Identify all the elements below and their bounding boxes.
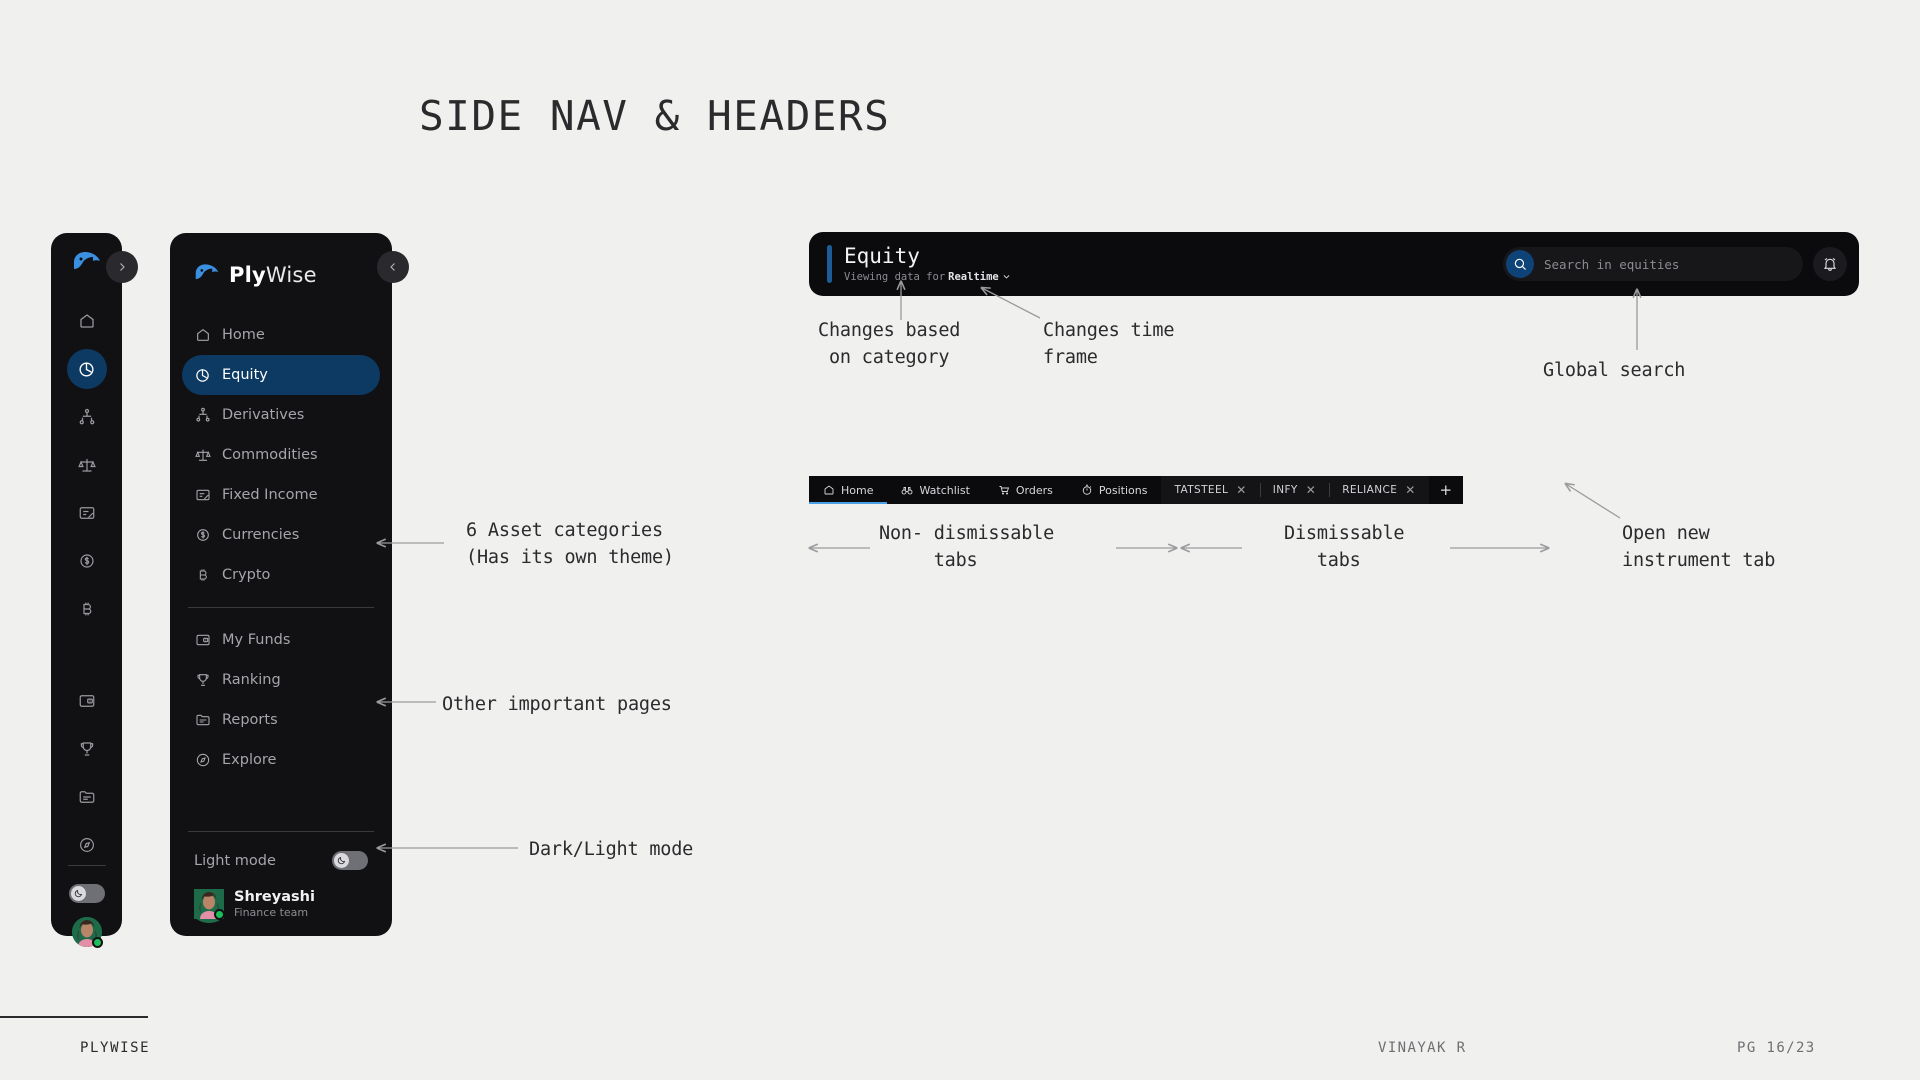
- close-icon[interactable]: ✕: [1236, 484, 1246, 496]
- sidebar-item-currencies[interactable]: Currencies: [182, 515, 380, 555]
- nav-footer: Light mode: [182, 819, 380, 920]
- sidebar-item-label: Fixed Income: [222, 487, 318, 503]
- sidebar-item-home[interactable]: Home: [182, 315, 380, 355]
- rail-item-my-funds[interactable]: [67, 681, 107, 721]
- rail-item-reports[interactable]: [67, 777, 107, 817]
- tab-infy[interactable]: INFY ✕: [1260, 476, 1329, 504]
- rail-item-explore[interactable]: [67, 825, 107, 865]
- plus-icon: +: [1439, 481, 1452, 499]
- binoculars-icon: [901, 484, 913, 496]
- sidebar-item-label: Currencies: [222, 527, 299, 543]
- theme-toggle[interactable]: [332, 851, 368, 870]
- theme-mode-label: Light mode: [194, 853, 276, 869]
- nav-asset-categories: Home Equity Derivatives Commodities Fixe…: [182, 315, 380, 595]
- sidebar-item-label: Explore: [222, 752, 276, 768]
- timeframe-prefix: Viewing data for: [844, 271, 945, 283]
- page-header-bar: Equity Viewing data for Realtime Search …: [809, 232, 1859, 296]
- sidebar-item-label: Equity: [222, 367, 268, 383]
- annotation-non-dismissable-tabs: Non- dismissable tabs: [879, 521, 1054, 575]
- home-icon: [823, 484, 835, 496]
- sidebar-item-label: Ranking: [222, 672, 281, 688]
- rail-avatar[interactable]: [72, 917, 102, 947]
- theme-mode-row: Light mode: [182, 844, 380, 878]
- crypto-bitcoin-icon: [194, 567, 211, 584]
- rail-primary-items: [67, 301, 107, 629]
- user-profile[interactable]: Shreyashi Finance team: [182, 878, 380, 920]
- moon-icon: [334, 853, 349, 868]
- header-title: Equity: [844, 245, 1011, 267]
- rail-divider-bottom: [68, 865, 106, 866]
- annotation-global-search: Global search: [1543, 358, 1685, 385]
- rail-item-home[interactable]: [67, 301, 107, 341]
- cart-icon: [998, 484, 1010, 496]
- tab-label: Positions: [1099, 484, 1148, 497]
- tab-label: RELIANCE: [1342, 484, 1397, 496]
- sidebar-item-my-funds[interactable]: My Funds: [182, 620, 380, 660]
- derivatives-node-icon: [194, 407, 211, 424]
- my-funds-wallet-icon: [194, 632, 211, 649]
- tab-positions[interactable]: Positions: [1067, 476, 1162, 504]
- brand-name-light: Wise: [266, 263, 317, 287]
- equity-pie-icon: [194, 367, 211, 384]
- status-badge-online: [214, 909, 225, 920]
- tab-reliance[interactable]: RELIANCE ✕: [1329, 476, 1429, 504]
- rail-secondary-items: [67, 681, 107, 865]
- timeframe-value: Realtime: [948, 271, 999, 283]
- footer-page-number: PG 16/23: [1737, 1040, 1816, 1056]
- sidebar-item-fixed-income[interactable]: Fixed Income: [182, 475, 380, 515]
- rail-item-equity[interactable]: [67, 349, 107, 389]
- rail-item-derivatives[interactable]: [67, 397, 107, 437]
- annotation-other-pages: Other important pages: [442, 692, 672, 719]
- footer-rule: [0, 1016, 148, 1018]
- sidebar-item-reports[interactable]: Reports: [182, 700, 380, 740]
- rail-footer: [68, 865, 106, 967]
- search-input[interactable]: Search in equities: [1503, 247, 1803, 281]
- chevron-left-icon: [387, 261, 399, 273]
- nav-collapse-button[interactable]: [377, 251, 409, 283]
- sidebar-item-label: Crypto: [222, 567, 270, 583]
- dismissable-tab-group: TATSTEEL ✕ INFY ✕ RELIANCE ✕: [1161, 476, 1428, 504]
- annotation-dismissable-tabs: Dismissable tabs: [1284, 521, 1404, 575]
- tab-label: TATSTEEL: [1174, 484, 1228, 496]
- avatar: [194, 889, 224, 919]
- annotation-open-new-tab: Open new instrument tab: [1622, 521, 1775, 575]
- sidebar-item-equity[interactable]: Equity: [182, 355, 380, 395]
- chevron-right-icon: [116, 261, 128, 273]
- rail-expand-button[interactable]: [106, 251, 138, 283]
- sidebar-item-ranking[interactable]: Ranking: [182, 660, 380, 700]
- header-accent-bar: [827, 245, 832, 283]
- footer-brand: PLYWISE: [80, 1040, 150, 1056]
- close-icon[interactable]: ✕: [1405, 484, 1415, 496]
- page-title: SIDE NAV & HEADERS: [419, 92, 890, 140]
- tab-label: Home: [841, 484, 873, 497]
- user-role: Finance team: [234, 906, 315, 920]
- plywise-bird-logo-icon: [70, 251, 104, 273]
- close-icon[interactable]: ✕: [1306, 484, 1316, 496]
- brand-name-bold: Ply: [229, 263, 266, 287]
- reports-folder-icon: [194, 712, 211, 729]
- sidebar-item-label: My Funds: [222, 632, 290, 648]
- annotation-asset-categories: 6 Asset categories (Has its own theme): [466, 518, 674, 572]
- sidebar-item-explore[interactable]: Explore: [182, 740, 380, 780]
- slide-canvas: SIDE NAV & HEADERS: [0, 0, 1920, 1080]
- sidebar-item-label: Reports: [222, 712, 278, 728]
- header-titles: Equity Viewing data for Realtime: [844, 245, 1011, 282]
- expanded-sidebar-nav: PlyWise Home Equity Derivatives Commodit…: [170, 233, 392, 936]
- commodities-scale-icon: [194, 447, 211, 464]
- nav-divider: [188, 607, 374, 608]
- tab-home[interactable]: Home: [809, 476, 887, 504]
- sidebar-item-label: Home: [222, 327, 265, 343]
- sidebar-item-commodities[interactable]: Commodities: [182, 435, 380, 475]
- sidebar-item-label: Derivatives: [222, 407, 304, 423]
- brand-name: PlyWise: [229, 263, 317, 287]
- instrument-tab-bar: Home Watchlist Orders Positions TATSTEEL…: [809, 476, 1463, 504]
- search-icon: [1506, 250, 1534, 278]
- tab-label: Watchlist: [919, 484, 969, 497]
- add-instrument-tab-button[interactable]: +: [1429, 476, 1463, 504]
- sidebar-item-derivatives[interactable]: Derivatives: [182, 395, 380, 435]
- rail-theme-toggle[interactable]: [69, 884, 105, 903]
- nav-divider-bottom: [188, 831, 374, 832]
- user-info: Shreyashi Finance team: [234, 888, 315, 920]
- annotation-dark-light-mode: Dark/Light mode: [529, 837, 693, 864]
- stopwatch-icon: [1081, 484, 1093, 496]
- search-placeholder: Search in equities: [1544, 257, 1679, 272]
- rail-item-commodities[interactable]: [67, 445, 107, 485]
- explore-compass-icon: [194, 752, 211, 769]
- rail-item-fixed-income[interactable]: [67, 493, 107, 533]
- rail-item-ranking[interactable]: [67, 729, 107, 769]
- moon-icon: [71, 886, 86, 901]
- fixed-income-note-icon: [194, 487, 211, 504]
- user-name: Shreyashi: [234, 888, 315, 906]
- plywise-bird-logo-icon: [194, 263, 220, 287]
- tab-orders[interactable]: Orders: [984, 476, 1067, 504]
- rail-item-currencies[interactable]: [67, 541, 107, 581]
- sidebar-item-crypto[interactable]: Crypto: [182, 555, 380, 595]
- tab-watchlist[interactable]: Watchlist: [887, 476, 983, 504]
- notification-bell-icon[interactable]: [1813, 247, 1847, 281]
- tab-tatsteel[interactable]: TATSTEEL ✕: [1161, 476, 1259, 504]
- header-actions: Search in equities: [1503, 247, 1847, 281]
- nav-other-pages: My Funds Ranking Reports Explore: [182, 620, 380, 780]
- sidebar-item-label: Commodities: [222, 447, 318, 463]
- tab-label: INFY: [1273, 484, 1298, 496]
- annotation-changes-category: Changes based on category: [818, 318, 960, 372]
- rail-item-crypto[interactable]: [67, 589, 107, 629]
- timeframe-selector[interactable]: Viewing data for Realtime: [844, 271, 1011, 283]
- home-icon: [194, 327, 211, 344]
- ranking-trophy-icon: [194, 672, 211, 689]
- collapsed-sidebar-rail: [51, 233, 122, 936]
- annotation-changes-timeframe: Changes time frame: [1043, 318, 1174, 372]
- brand-logo[interactable]: PlyWise: [182, 253, 380, 293]
- currencies-dollar-refresh-icon: [194, 527, 211, 544]
- chevron-down-icon: [1002, 272, 1011, 281]
- footer-author: VINAYAK R: [1378, 1040, 1466, 1056]
- tab-label: Orders: [1016, 484, 1053, 497]
- status-badge-online: [92, 937, 103, 948]
